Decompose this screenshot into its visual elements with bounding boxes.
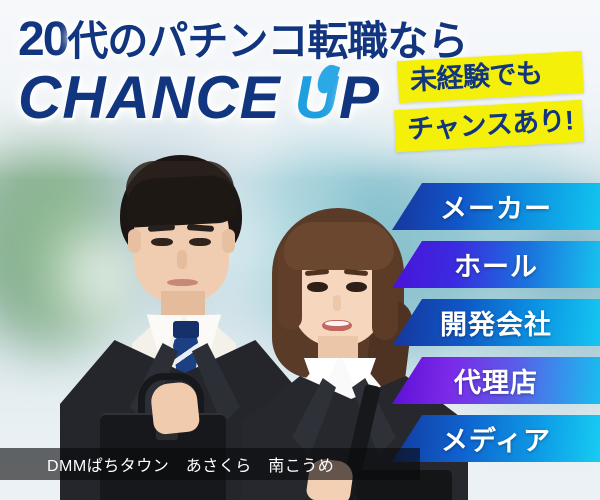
male-fringe bbox=[125, 174, 239, 228]
female-nose bbox=[333, 295, 341, 311]
category-item-hall[interactable]: ホール bbox=[392, 241, 600, 288]
male-ear-right bbox=[222, 229, 235, 253]
category-item-agency[interactable]: 代理店 bbox=[392, 357, 600, 404]
caption-text: DMMぱちタウン あさくら 南こうめ bbox=[47, 452, 334, 476]
female-eye-right bbox=[346, 282, 367, 292]
male-necktie-knot bbox=[173, 321, 199, 338]
category-list: メーカー ホール 開発会社 代理店 メディア bbox=[392, 183, 600, 462]
badge-chance-available: チャンスあり! bbox=[394, 100, 584, 153]
category-item-maker[interactable]: メーカー bbox=[392, 183, 600, 230]
female-teeth bbox=[325, 321, 349, 326]
category-item-media[interactable]: メディア bbox=[392, 415, 600, 462]
highlight-badges: 未経験でも チャンスあり! bbox=[398, 56, 583, 147]
male-nose bbox=[177, 250, 187, 269]
male-eye-right bbox=[189, 238, 211, 246]
male-hand bbox=[150, 381, 201, 436]
category-item-development-company[interactable]: 開発会社 bbox=[392, 299, 600, 346]
male-ear-left bbox=[128, 229, 141, 253]
caption-bar: DMMぱちタウン あさくら 南こうめ bbox=[0, 448, 420, 480]
female-eye-left bbox=[307, 282, 328, 292]
male-mouth bbox=[167, 279, 198, 286]
advertisement-banner[interactable]: 20代のパチンコ転職なら CHANCE UP 未経験でも チャンスあり! メーカ… bbox=[0, 0, 600, 500]
female-fringe bbox=[284, 222, 394, 270]
badge-no-experience: 未経験でも bbox=[397, 51, 584, 103]
male-eye-left bbox=[151, 238, 173, 246]
